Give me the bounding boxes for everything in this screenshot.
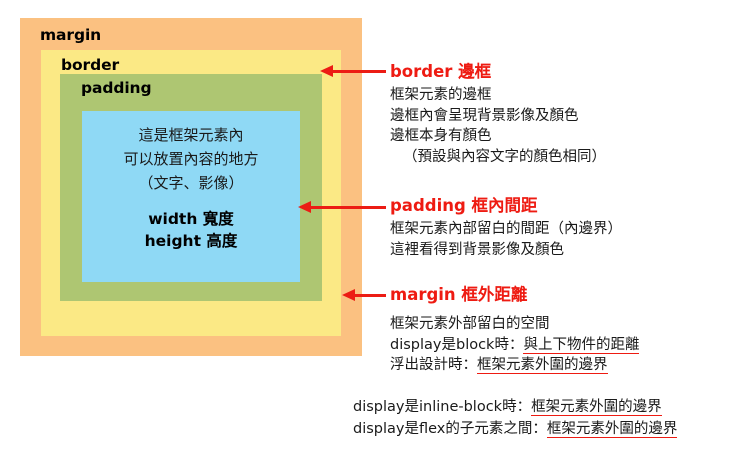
margin-annotation-line-1: 框架元素外部留白的空間 [390, 314, 639, 335]
margin-annotation: margin 框外距離 框架元素外部留白的空間 display是block時：與… [390, 281, 639, 376]
padding-box-label: padding [81, 79, 152, 97]
content-box: 這是框架元素內 可以放置內容的地方 （文字、影像） width 寬度 heigh… [82, 111, 300, 282]
padding-annotation-line-1: 框架元素內部留白的間距（內邊界） [390, 219, 622, 240]
content-width-label: width 寬度 [82, 208, 300, 230]
border-annotation-line-4: （預設與內容文字的顏色相同） [390, 147, 606, 168]
padding-box: padding 這是框架元素內 可以放置內容的地方 （文字、影像） width … [60, 74, 322, 301]
margin-annotation-body: 框架元素外部留白的空間 display是block時：與上下物件的距離 浮出設計… [390, 314, 639, 376]
display-flex-line: display是flex的子元素之間：框架元素外圍的邊界 [353, 418, 677, 440]
margin-annotation-line-2: display是block時：與上下物件的距離 [390, 335, 639, 356]
margin-box: margin border padding 這是框架元素內 可以放置內容的地方 … [20, 18, 362, 356]
margin-annotation-line-3: 浮出設計時：框架元素外圍的邊界 [390, 355, 639, 376]
margin-box-label: margin [40, 26, 101, 44]
content-line-3: （文字、影像） [82, 171, 300, 195]
margin-annotation-heading: margin 框外距離 [390, 281, 639, 305]
margin-line-3-emphasis: 框架元素外圍的邊界 [477, 357, 608, 374]
margin-line-2-prefix: display是block時： [390, 337, 523, 353]
display-modes-note: display是inline-block時：框架元素外圍的邊界 display是… [353, 396, 677, 440]
border-annotation-heading: border 邊框 [390, 58, 606, 82]
box-model-diagram-canvas: margin border padding 這是框架元素內 可以放置內容的地方 … [0, 0, 750, 461]
content-height-label: height 高度 [82, 230, 300, 252]
flex-emphasis: 框架元素外圍的邊界 [547, 421, 678, 438]
border-annotation-line-2: 邊框內會呈現背景影像及顏色 [390, 106, 606, 127]
margin-line-3-prefix: 浮出設計時： [390, 357, 477, 373]
padding-annotation-body: 框架元素內部留白的間距（內邊界） 這裡看得到背景影像及顏色 [390, 219, 622, 260]
content-line-1: 這是框架元素內 [82, 123, 300, 147]
content-line-2: 可以放置內容的地方 [82, 147, 300, 171]
padding-annotation-heading: padding 框內間距 [390, 192, 622, 216]
padding-annotation: padding 框內間距 框架元素內部留白的間距（內邊界） 這裡看得到背景影像及… [390, 192, 622, 260]
flex-prefix: display是flex的子元素之間： [353, 421, 547, 437]
display-inline-block-line: display是inline-block時：框架元素外圍的邊界 [353, 396, 677, 418]
border-annotation-line-1: 框架元素的邊框 [390, 85, 606, 106]
border-annotation-line-3: 邊框本身有顏色 [390, 126, 606, 147]
margin-line-2-emphasis: 與上下物件的距離 [523, 337, 639, 354]
border-annotation-body: 框架元素的邊框 邊框內會呈現背景影像及顏色 邊框本身有顏色 （預設與內容文字的顏… [390, 85, 606, 167]
border-annotation: border 邊框 框架元素的邊框 邊框內會呈現背景影像及顏色 邊框本身有顏色 … [390, 58, 606, 167]
padding-annotation-line-2: 這裡看得到背景影像及顏色 [390, 240, 622, 261]
content-box-text: 這是框架元素內 可以放置內容的地方 （文字、影像） width 寬度 heigh… [82, 123, 300, 252]
inline-block-prefix: display是inline-block時： [353, 399, 531, 415]
border-box-label: border [61, 56, 119, 74]
inline-block-emphasis: 框架元素外圍的邊界 [531, 399, 662, 416]
border-box: border padding 這是框架元素內 可以放置內容的地方 （文字、影像）… [41, 50, 341, 336]
